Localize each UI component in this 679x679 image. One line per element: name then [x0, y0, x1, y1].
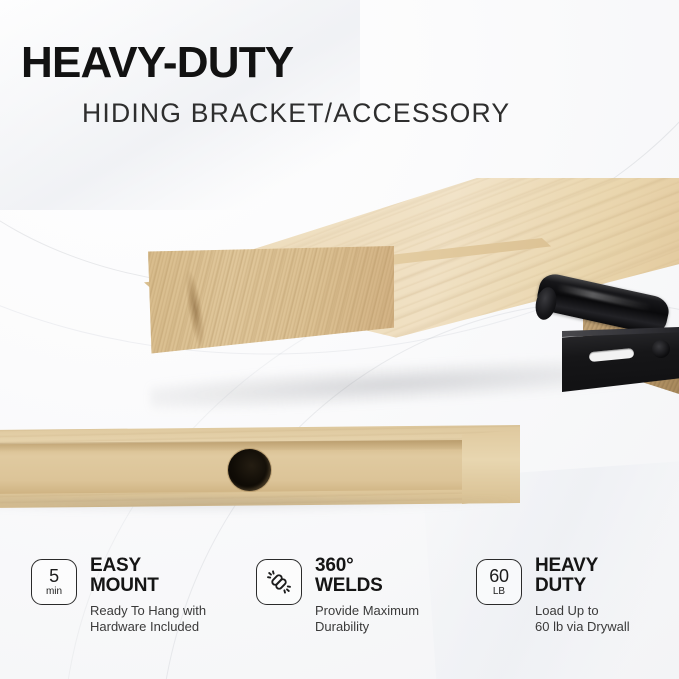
feature-title: EASY MOUNT: [90, 556, 206, 596]
feature-list: 5 min EASY MOUNT Ready To Hang with Hard…: [0, 556, 679, 666]
feature-item-360-welds: 360° WELDS Provide Maximum Durability: [256, 556, 419, 635]
badge-unit: min: [46, 586, 62, 597]
feature-description: Load Up to 60 lb via Drywall: [535, 603, 630, 635]
feature-title: 360° WELDS: [315, 556, 419, 596]
product-marketing-image: HEAVY-DUTY HIDING BRACKET/ACCESSORY 5 mi…: [0, 0, 679, 679]
subheadline: HIDING BRACKET/ACCESSORY: [82, 99, 510, 127]
back-board-drop-shadow: [0, 498, 510, 514]
badge-60-lb: 60 LB: [476, 559, 522, 605]
badge-number: 5: [49, 568, 59, 585]
back-board-drilled-hole: [228, 449, 271, 491]
badge-welds: [256, 559, 302, 605]
badge-unit: LB: [493, 586, 505, 597]
feature-item-heavy-duty: 60 LB HEAVY DUTY Load Up to 60 lb via Dr…: [476, 556, 630, 635]
badge-5-min: 5 min: [31, 559, 77, 605]
headline: HEAVY-DUTY: [21, 41, 293, 85]
feature-text: HEAVY DUTY Load Up to 60 lb via Drywall: [535, 556, 630, 635]
feature-title: HEAVY DUTY: [535, 556, 630, 596]
chain-link-weld-icon: [266, 569, 292, 595]
feature-description: Provide Maximum Durability: [315, 603, 419, 635]
feature-text: 360° WELDS Provide Maximum Durability: [315, 556, 419, 635]
feature-item-easy-mount: 5 min EASY MOUNT Ready To Hang with Hard…: [31, 556, 206, 635]
back-board-right-lip: [462, 430, 520, 504]
badge-number: 60: [489, 568, 509, 585]
feature-text: EASY MOUNT Ready To Hang with Hardware I…: [90, 556, 206, 635]
feature-description: Ready To Hang with Hardware Included: [90, 603, 206, 635]
